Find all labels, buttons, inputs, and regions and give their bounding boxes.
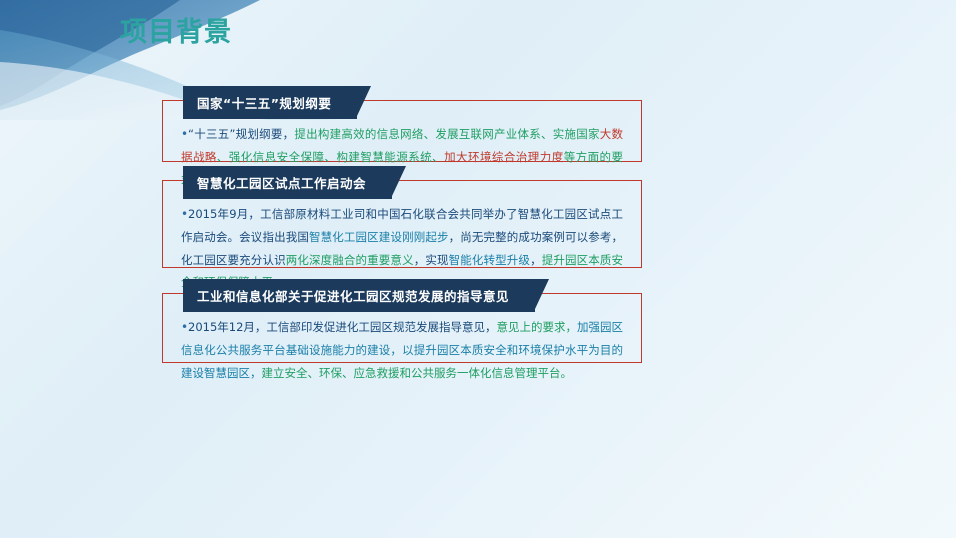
card-2-header: 智慧化工园区试点工作启动会 — [183, 166, 392, 199]
content-block-2: 智慧化工园区试点工作启动会 •2015年9月，工信部原材料工业司和中国石化联合会… — [162, 180, 642, 268]
card-3-header: 工业和信息化部关于促进化工园区规范发展的指导意见 — [183, 279, 535, 312]
card-1-header: 国家“十三五”规划纲要 — [183, 86, 357, 119]
bullet-icon: • — [181, 203, 188, 226]
card-1: 国家“十三五”规划纲要 •“十三五”规划纲要，提出构建高效的信息网络、发展互联网… — [162, 100, 642, 162]
bullet-icon: • — [181, 316, 188, 339]
content-block-1: 国家“十三五”规划纲要 •“十三五”规划纲要，提出构建高效的信息网络、发展互联网… — [162, 100, 642, 162]
content-block-3: 工业和信息化部关于促进化工园区规范发展的指导意见 •2015年12月，工信部印发… — [162, 293, 642, 363]
bullet-icon: • — [181, 123, 188, 146]
card-3-text: 2015年12月，工信部印发促进化工园区规范发展指导意见，意见上的要求，加强园区… — [181, 320, 623, 380]
card-2-text: 2015年9月，工信部原材料工业司和中国石化联合会共同举办了智慧化工园区试点工作… — [181, 207, 623, 289]
page-title: 项目背景 — [120, 10, 232, 49]
card-3: 工业和信息化部关于促进化工园区规范发展的指导意见 •2015年12月，工信部印发… — [162, 293, 642, 363]
card-2: 智慧化工园区试点工作启动会 •2015年9月，工信部原材料工业司和中国石化联合会… — [162, 180, 642, 268]
